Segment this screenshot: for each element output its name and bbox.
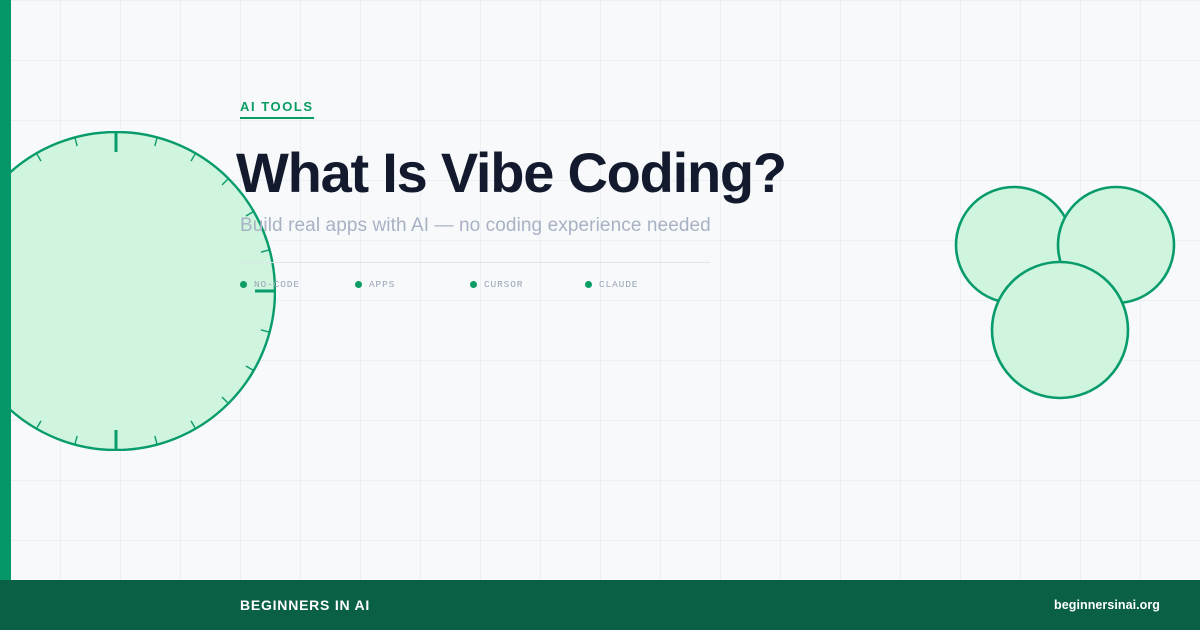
bullet-dot-icon [585,281,592,288]
tag-label: CLAUDE [599,279,638,290]
bullet-dot-icon [240,281,247,288]
tag-label: APPS [369,279,395,290]
tag-label: NO-CODE [254,279,300,290]
tag-item: CLAUDE [585,279,700,290]
dial-circle [0,131,276,451]
circle-bottom [992,262,1128,398]
bullet-dot-icon [355,281,362,288]
content-column: AI TOOLS What Is Vibe Coding? Build real… [240,0,940,580]
page-title: What Is Vibe Coding? [236,142,786,205]
tag-item: NO-CODE [240,279,355,290]
divider [240,262,710,263]
footer-bar: BEGINNERS IN AI beginnersinai.org [0,580,1200,630]
footer-brand: BEGINNERS IN AI [240,597,370,613]
page-subtitle: Build real apps with AI — no coding expe… [240,215,711,237]
category-eyebrow: AI TOOLS [240,99,314,119]
three-overlapping-circles [944,171,1184,401]
tag-list: NO-CODE APPS CURSOR CLAUDE [240,279,700,290]
bullet-dot-icon [470,281,477,288]
left-accent-bar [0,0,11,580]
social-card: AI TOOLS What Is Vibe Coding? Build real… [0,0,1200,630]
footer-url: beginnersinai.org [1054,598,1160,612]
tag-item: CURSOR [470,279,585,290]
tag-item: APPS [355,279,470,290]
tag-label: CURSOR [484,279,523,290]
